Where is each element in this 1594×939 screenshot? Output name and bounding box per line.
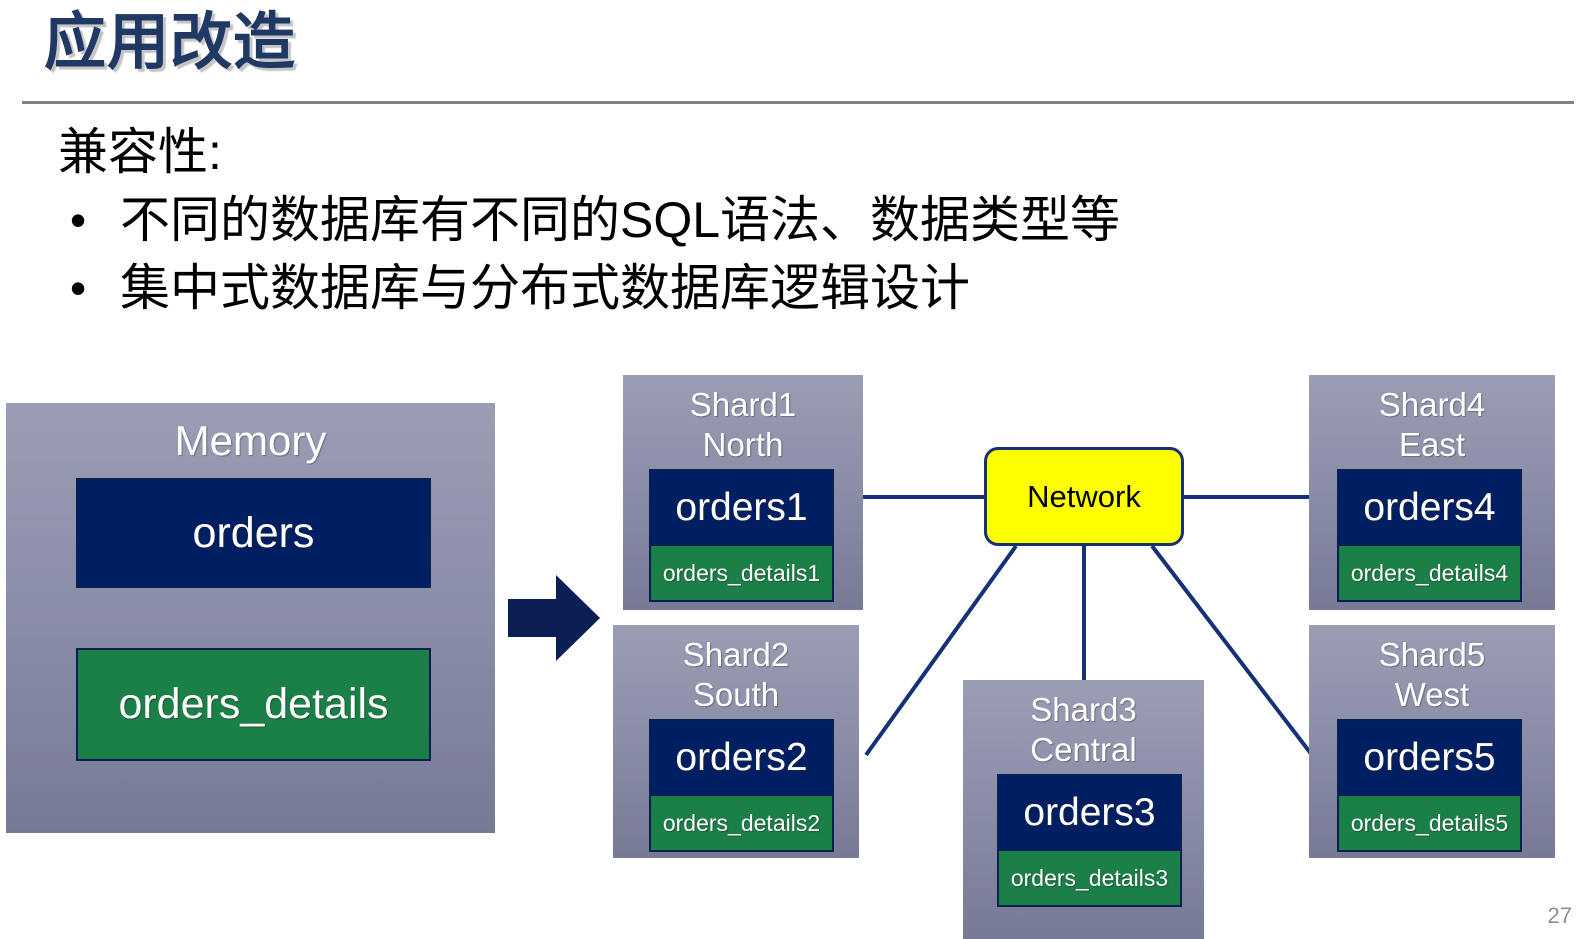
shard-panel-shard3: Shard3 Central orders3 orders_details3: [963, 680, 1204, 939]
table-orders-details1-label: orders_details1: [663, 560, 820, 587]
memory-panel: Memory orders orders_details: [6, 403, 495, 833]
shard-panel-shard1: Shard1 North orders1 orders_details1: [623, 375, 863, 610]
architecture-diagram: Memory orders orders_details Shard1 Nort…: [0, 0, 1594, 939]
table-orders-details2[interactable]: orders_details2: [649, 794, 834, 852]
table-orders3-label: orders3: [1023, 791, 1155, 835]
table-orders-details[interactable]: orders_details: [76, 648, 431, 761]
table-orders2[interactable]: orders2: [649, 719, 834, 796]
right-block-arrow-icon: [508, 573, 600, 663]
network-node-label: Network: [1027, 479, 1141, 515]
slide-canvas: 应用改造 兼容性: • 不同的数据库有不同的SQL语法、数据类型等 • 集中式数…: [0, 0, 1594, 939]
shard4-region: East: [1309, 425, 1555, 465]
shard2-name: Shard2: [613, 625, 859, 675]
table-orders1-label: orders1: [675, 486, 807, 530]
memory-panel-label: Memory: [6, 403, 495, 465]
table-orders-details3[interactable]: orders_details3: [997, 849, 1182, 907]
table-orders1[interactable]: orders1: [649, 469, 834, 546]
table-orders-details4[interactable]: orders_details4: [1337, 544, 1522, 602]
table-orders5[interactable]: orders5: [1337, 719, 1522, 796]
table-orders4[interactable]: orders4: [1337, 469, 1522, 546]
shard2-region: South: [613, 675, 859, 715]
shard3-name: Shard3: [963, 680, 1204, 730]
shard1-name: Shard1: [623, 375, 863, 425]
shard4-name: Shard4: [1309, 375, 1555, 425]
shard-panel-shard5: Shard5 West orders5 orders_details5: [1309, 625, 1555, 858]
shard5-name: Shard5: [1309, 625, 1555, 675]
shard1-region: North: [623, 425, 863, 465]
shard3-region: Central: [963, 730, 1204, 770]
table-orders3[interactable]: orders3: [997, 774, 1182, 851]
table-orders-details-label: orders_details: [118, 680, 388, 729]
table-orders-label: orders: [193, 509, 315, 558]
table-orders-details4-label: orders_details4: [1351, 560, 1508, 587]
table-orders-details2-label: orders_details2: [663, 810, 820, 837]
shard-panel-shard2: Shard2 South orders2 orders_details2: [613, 625, 859, 858]
table-orders2-label: orders2: [675, 736, 807, 780]
table-orders-details5-label: orders_details5: [1351, 810, 1508, 837]
network-node[interactable]: Network: [984, 447, 1184, 546]
table-orders4-label: orders4: [1363, 486, 1495, 530]
table-orders-details5[interactable]: orders_details5: [1337, 794, 1522, 852]
shard-panel-shard4: Shard4 East orders4 orders_details4: [1309, 375, 1555, 610]
shard5-region: West: [1309, 675, 1555, 715]
table-orders-details3-label: orders_details3: [1011, 865, 1168, 892]
table-orders[interactable]: orders: [76, 478, 431, 588]
page-number: 27: [1548, 903, 1572, 929]
table-orders5-label: orders5: [1363, 736, 1495, 780]
table-orders-details1[interactable]: orders_details1: [649, 544, 834, 602]
